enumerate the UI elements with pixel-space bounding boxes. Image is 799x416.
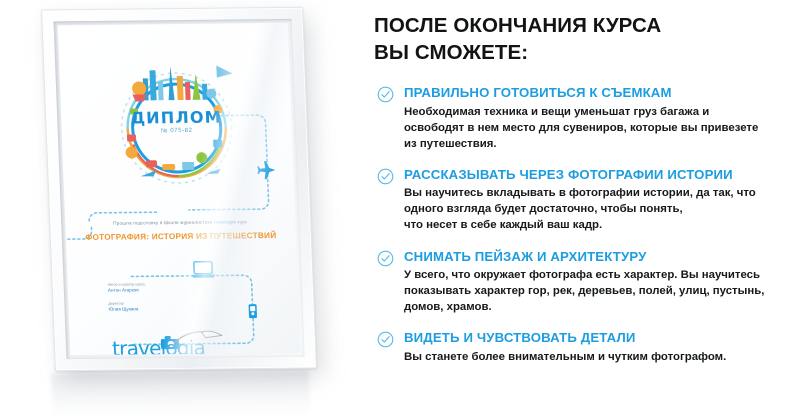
check-circle-icon [377, 331, 394, 348]
emblem-title: ДИПЛОМ [100, 107, 253, 128]
benefit-description: У всего, что окружает фотографа есть хар… [404, 267, 799, 315]
diploma-emblem: ДИПЛОМ № 075-82 [98, 47, 256, 200]
benefits-panel: ПОСЛЕ ОКОНЧАНИЯ КУРСА ВЫ СМОЖЕТЕ: ПРАВИЛ… [374, 0, 799, 416]
cert-prefix: Прошла подготовку в Школе журналистики [113, 220, 214, 226]
logo-swoosh-icon [171, 329, 224, 346]
benefit-line: показывать характер гор, рек, деревьев, … [404, 283, 799, 299]
benefit-title: РАССКАЗЫВАТЬ ЧЕРЕЗ ФОТОГРАФИИ ИСТОРИИ [404, 167, 799, 184]
benefit-title: ПРАВИЛЬНО ГОТОВИТЬСЯ К СЪЕМКАМ [404, 85, 799, 102]
cert-suffix: курс [236, 219, 248, 224]
framed-diploma: ДИПЛОМ № 075-82 Прошла подготовку в Школ… [41, 7, 315, 369]
headline-line-1: ПОСЛЕ ОКОНЧАНИЯ КУРСА [374, 14, 661, 37]
benefits-list: ПРАВИЛЬНО ГОТОВИТЬСЯ К СЪЕМКАМ Необходим… [374, 85, 799, 365]
benefit-line: Вы станете более внимательным и чутким ф… [404, 349, 799, 365]
check-circle-icon [377, 86, 394, 103]
benefit-line: Вы научитесь вкладывать в фотографии ист… [404, 185, 799, 201]
benefit-title: ВИДЕТЬ И ЧУВСТВОВАТЬ ДЕТАЛИ [404, 330, 799, 347]
benefit-line: из путешествия. [404, 136, 799, 152]
check-circle-icon [377, 250, 394, 267]
page-title: ПОСЛЕ ОКОНЧАНИЯ КУРСА ВЫ СМОЖЕТЕ: [374, 12, 799, 66]
diploma-image: ДИПЛОМ № 075-82 Прошла подготовку в Школ… [0, 0, 370, 416]
benefit-item: СНИМАТЬ ПЕЙЗАЖ И АРХИТЕКТУРУ У всего, чт… [374, 249, 799, 316]
benefit-line: освободят в нем место для сувениров, кот… [404, 120, 799, 136]
author-name: Антон Агарков [108, 287, 228, 295]
check-circle-icon [377, 168, 394, 185]
benefit-line: Необходимая техника и вещи уменьшат груз… [404, 104, 799, 120]
director-name: Юлия Щукина [109, 306, 229, 314]
benefit-description: Необходимая техника и вещи уменьшат груз… [404, 104, 799, 152]
benefit-description: Вы станете более внимательным и чутким ф… [404, 349, 799, 365]
benefit-title: СНИМАТЬ ПЕЙЗАЖ И АРХИТЕКТУРУ [404, 249, 799, 266]
signature-block: Автор и куратор курса: Антон Агарков Дир… [108, 281, 229, 313]
travelogia-logo: travelogia школа журналистики [112, 335, 243, 355]
benefit-item: ПРАВИЛЬНО ГОТОВИТЬСЯ К СЪЕМКАМ Необходим… [374, 85, 799, 152]
phone-icon [249, 304, 258, 318]
benefit-line: что несет в себе каждый ваш кадр. [404, 217, 799, 233]
benefit-line: одного взгляда будет достаточно, чтобы п… [404, 201, 799, 217]
benefit-description: Вы научитесь вкладывать в фотографии ист… [404, 185, 799, 233]
benefit-line: домов, храмов. [404, 299, 799, 315]
benefit-line: У всего, что окружает фотографа есть хар… [404, 267, 799, 283]
headline-line-2: ВЫ СМОЖЕТЕ: [374, 41, 528, 64]
landing-section: ДИПЛОМ № 075-82 Прошла подготовку в Школ… [0, 0, 799, 416]
benefit-item: ВИДЕТЬ И ЧУВСТВОВАТЬ ДЕТАЛИ Вы станете б… [374, 330, 799, 365]
picture-frame: ДИПЛОМ № 075-82 Прошла подготовку в Школ… [41, 7, 317, 371]
diploma-paper: ДИПЛОМ № 075-82 Прошла подготовку в Школ… [58, 23, 301, 355]
cert-brand: travelogia [214, 219, 236, 224]
plane-icon [257, 161, 276, 179]
laptop-icon [191, 262, 216, 278]
benefit-item: РАССКАЗЫВАТЬ ЧЕРЕЗ ФОТОГРАФИИ ИСТОРИИ Вы… [374, 167, 799, 234]
